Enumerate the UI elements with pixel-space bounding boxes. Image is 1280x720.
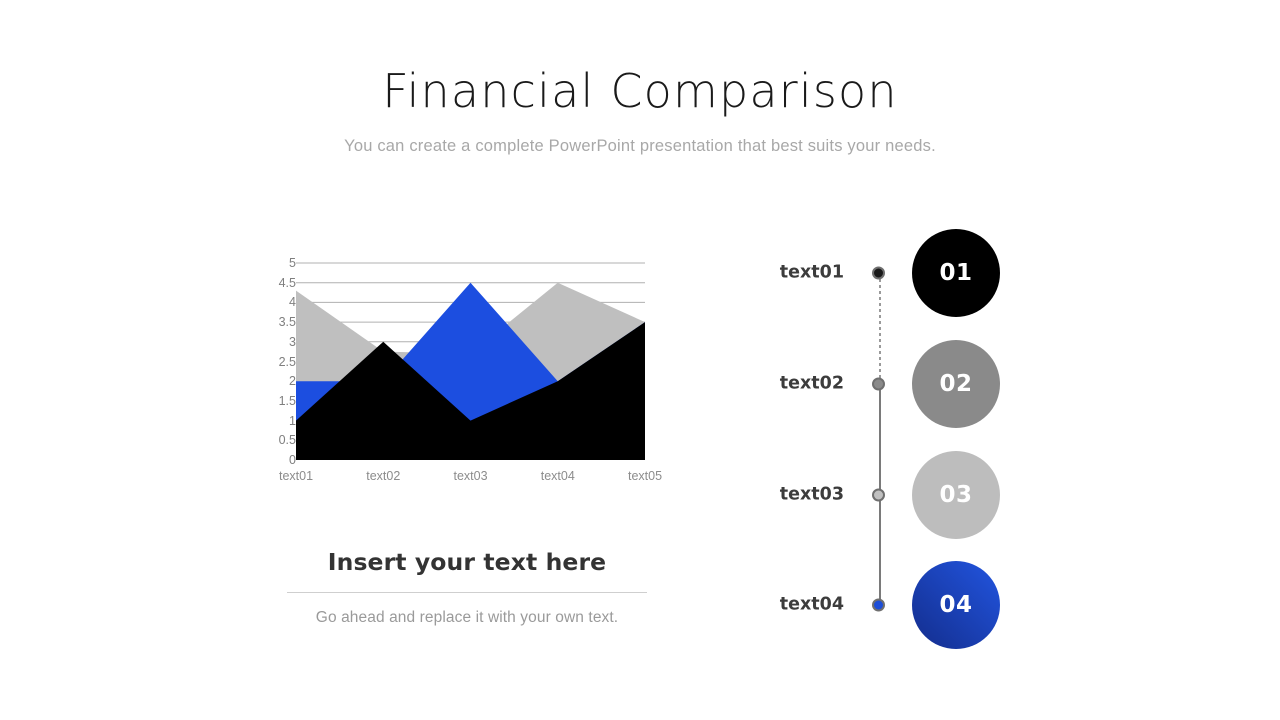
chart-svg [296,263,645,460]
y-axis-tick: 5 [289,257,296,270]
page-title: Financial Comparison [0,66,1280,117]
x-axis-tick: text04 [541,470,575,483]
caption-heading: Insert your text here [287,548,647,577]
x-axis-tick: text03 [453,470,487,483]
timeline-number-badge[interactable]: 04 [912,561,1000,649]
timeline-item-label: text01 [780,264,844,282]
chart-series-group [296,283,645,460]
y-axis-tick: 3 [289,336,296,349]
x-axis-tick: text01 [279,470,313,483]
y-axis-tick: 2.5 [279,355,296,368]
timeline-number-badge[interactable]: 01 [912,229,1000,317]
timeline: text0101text0202text0303text0404 [760,235,1030,655]
timeline-axis [878,235,882,635]
y-axis-tick: 0 [289,454,296,467]
y-axis-tick: 4 [289,296,296,309]
timeline-number-badge[interactable]: 02 [912,340,1000,428]
caption-divider [287,592,647,593]
timeline-number-badge[interactable]: 03 [912,451,1000,539]
y-axis-tick: 0.5 [279,434,296,447]
page-subtitle: You can create a complete PowerPoint pre… [0,137,1280,156]
timeline-dot-icon[interactable] [872,489,885,502]
timeline-connector [879,495,881,605]
x-axis-tick: text05 [628,470,662,483]
y-axis-tick: 4.5 [279,276,296,289]
caption-block: Insert your text here Go ahead and repla… [287,548,647,627]
chart-y-axis: 00.511.522.533.544.55 [262,248,296,460]
timeline-item-label: text02 [780,375,844,393]
timeline-connector [879,273,881,384]
chart-x-axis: text01text02text03text04text05 [272,470,682,490]
timeline-dot-icon[interactable] [872,378,885,391]
chart-plot-area [296,263,645,460]
caption-body: Go ahead and replace it with your own te… [287,609,647,627]
timeline-item-label: text04 [780,596,844,614]
timeline-dot-icon[interactable] [872,599,885,612]
y-axis-tick: 1.5 [279,395,296,408]
timeline-connector [879,384,881,495]
timeline-dot-icon[interactable] [872,267,885,280]
y-axis-tick: 1 [289,414,296,427]
area-chart: 00.511.522.533.544.55 text01text02text03… [262,248,682,498]
y-axis-tick: 3.5 [279,316,296,329]
timeline-item-label: text03 [780,486,844,504]
y-axis-tick: 2 [289,375,296,388]
x-axis-tick: text02 [366,470,400,483]
